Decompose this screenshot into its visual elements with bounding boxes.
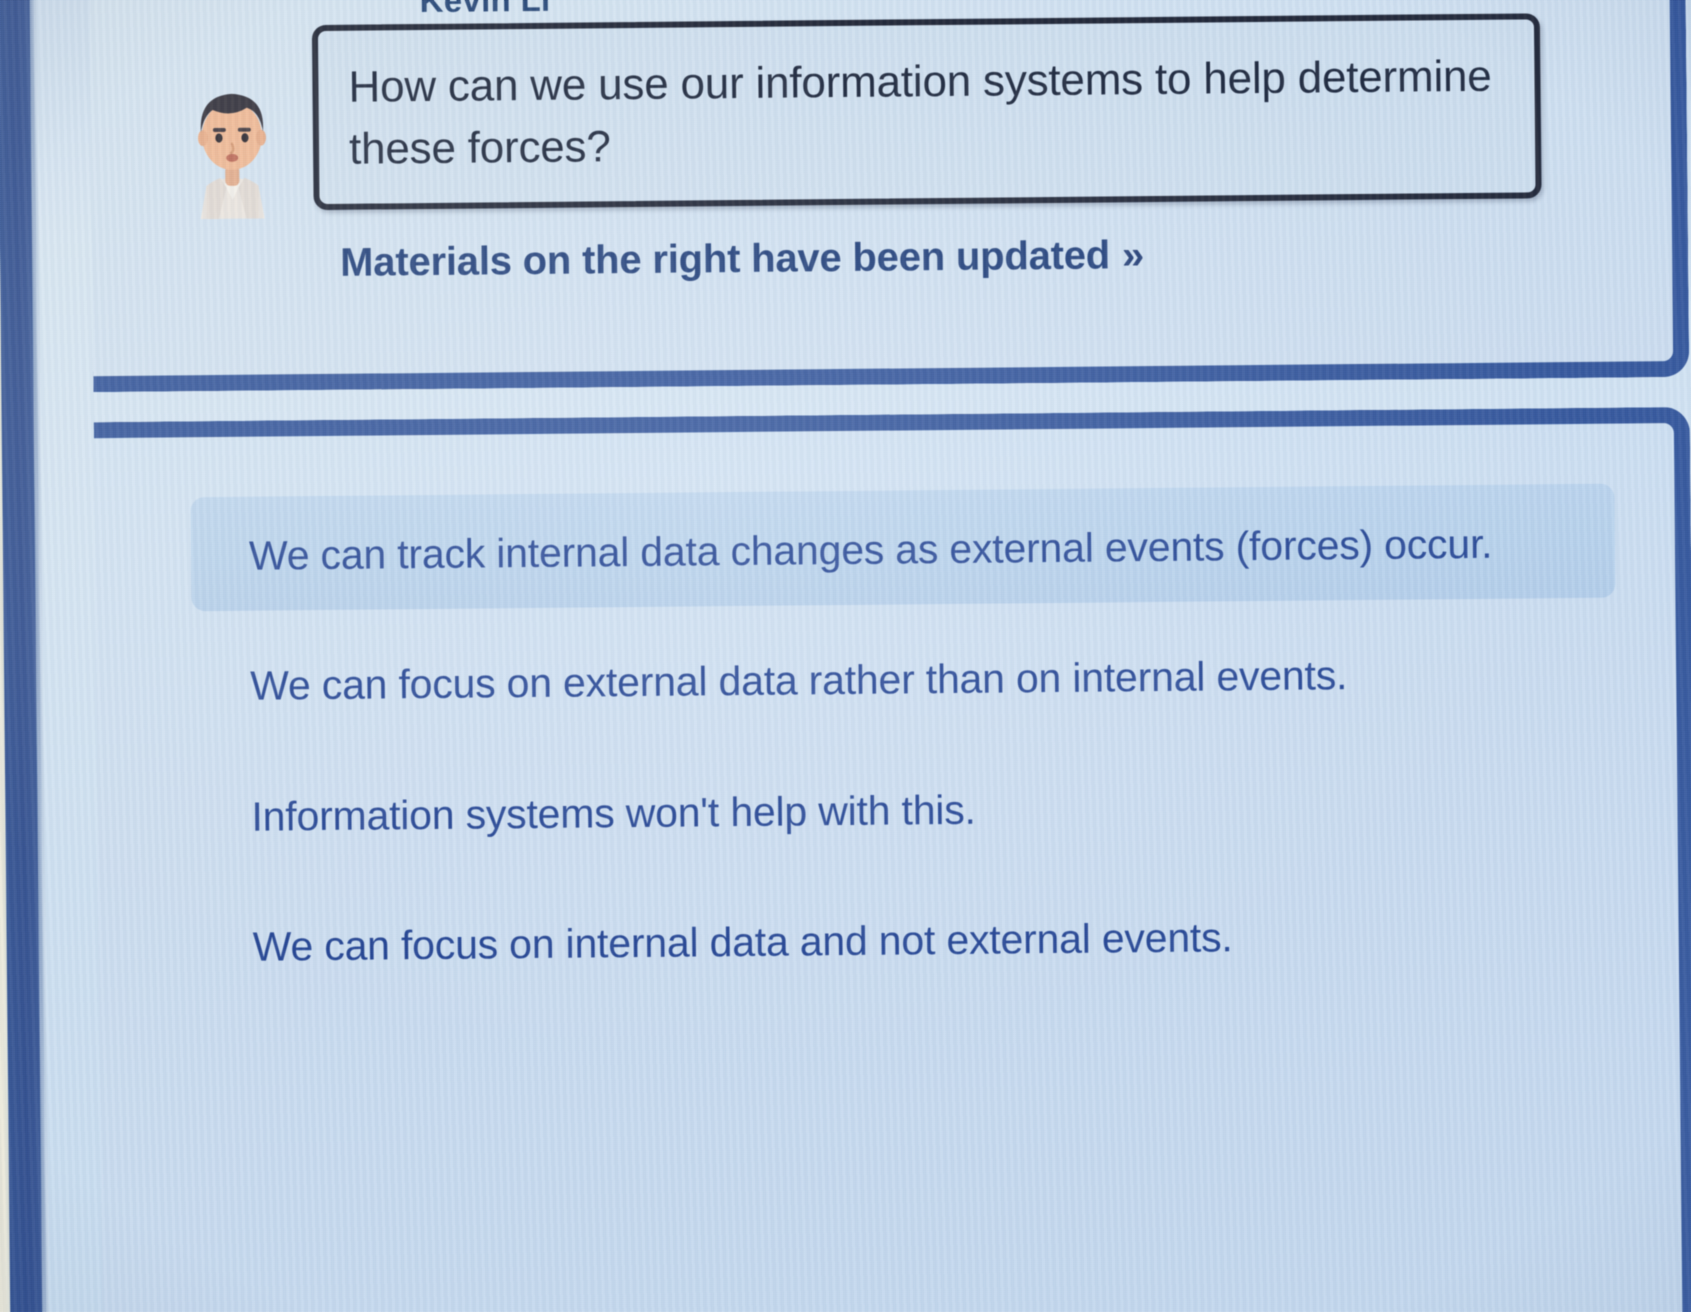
answer-option-4[interactable]: We can focus on internal data and not ex… (194, 875, 1619, 1003)
materials-updated-link[interactable]: Materials on the right have been updated… (340, 233, 1144, 286)
answer-option-label: We can focus on external data rather tha… (250, 642, 1581, 717)
answer-option-2[interactable]: We can focus on external data rather tha… (192, 614, 1617, 742)
answer-option-label: Information systems won't help with this… (251, 773, 1582, 848)
screen-surface: Kevin Li (34, 0, 1691, 1312)
answer-option-1[interactable]: We can track internal data changes as ex… (190, 484, 1615, 612)
question-bubble: How can we use our information systems t… (312, 13, 1542, 210)
conversation-panel: Kevin Li (89, 0, 1689, 392)
speaker-name: Kevin Li (419, 0, 550, 20)
answer-options-list: We can track internal data changes as ex… (190, 484, 1619, 1019)
screen-photograph: Kevin Li (0, 0, 1691, 1312)
answer-option-label: We can focus on internal data and not ex… (252, 903, 1583, 978)
double-chevron-right-icon: » (1122, 235, 1144, 275)
answer-options-panel: We can track internal data changes as ex… (94, 407, 1691, 1312)
question-text: How can we use our information systems t… (348, 46, 1511, 182)
materials-updated-label: Materials on the right have been updated (340, 233, 1110, 285)
answer-option-label: We can track internal data changes as ex… (249, 512, 1580, 587)
person-avatar-icon (185, 73, 278, 219)
answer-option-3[interactable]: Information systems won't help with this… (193, 744, 1618, 872)
